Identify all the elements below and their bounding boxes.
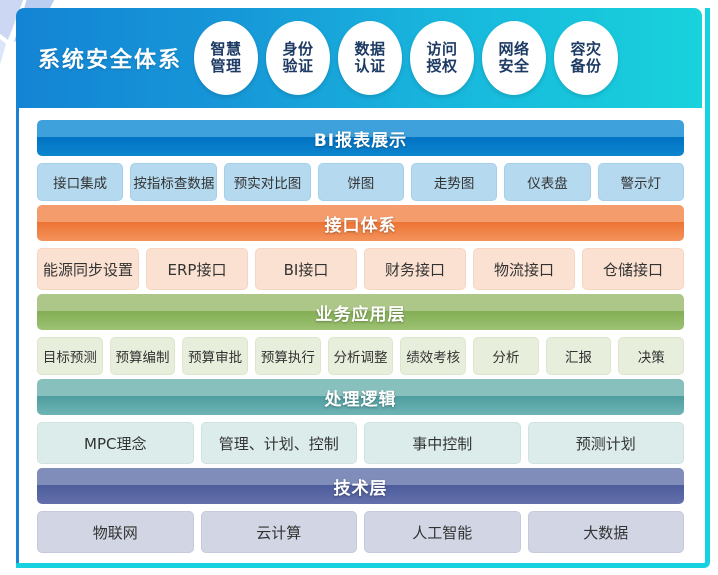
layer-processing-logic: 处理逻辑 MPC理念 管理、计划、控制 事中控制 预测计划	[33, 379, 688, 464]
layer-chip-row: 能源同步设置 ERP接口 BI接口 财务接口 物流接口 仓储接口	[33, 248, 688, 290]
layer-chip[interactable]: 饼图	[318, 163, 404, 201]
layer-chip[interactable]: 预测计划	[528, 422, 685, 464]
pill-line1: 数据	[355, 41, 386, 58]
layer-chip[interactable]: 汇报	[546, 337, 612, 375]
layer-chip[interactable]: BI接口	[255, 248, 357, 290]
layer-technology: 技术层 物联网 云计算 人工智能 大数据	[33, 468, 688, 553]
pill-line1: 网络	[499, 41, 530, 58]
layer-bi-report: BI报表展示 接口集成 按指标查数据 预实对比图 饼图 走势图 仪表盘 警示灯	[33, 120, 688, 201]
layer-chip[interactable]: 接口集成	[37, 163, 123, 201]
layer-chip[interactable]: 预算执行	[255, 337, 321, 375]
layer-chip[interactable]: 目标预测	[37, 337, 103, 375]
layer-chip[interactable]: 预实对比图	[224, 163, 310, 201]
layer-chip[interactable]: 人工智能	[364, 511, 521, 553]
header-band: 系统安全体系 智慧 管理 身份 验证 数据 认证 访问 授权 网络 安全	[16, 8, 702, 108]
layer-chip-row: 目标预测 预算编制 预算审批 预算执行 分析调整 绩效考核 分析 汇报 决策	[33, 337, 688, 375]
security-pill[interactable]: 访问 授权	[410, 21, 474, 95]
security-pill[interactable]: 智慧 管理	[194, 21, 258, 95]
layers-panel: BI报表展示 接口集成 按指标查数据 预实对比图 饼图 走势图 仪表盘 警示灯 …	[16, 108, 702, 563]
layer-chip[interactable]: 分析	[473, 337, 539, 375]
layer-chip[interactable]: ERP接口	[146, 248, 248, 290]
layer-chip[interactable]: 事中控制	[364, 422, 521, 464]
pill-line1: 智慧	[211, 41, 242, 58]
layer-chip[interactable]: 管理、计划、控制	[201, 422, 358, 464]
pill-line2: 备份	[571, 58, 602, 75]
layer-chip-row: 物联网 云计算 人工智能 大数据	[33, 511, 688, 553]
security-pill[interactable]: 数据 认证	[338, 21, 402, 95]
layer-chip[interactable]: 财务接口	[364, 248, 466, 290]
layer-business-application: 业务应用层 目标预测 预算编制 预算审批 预算执行 分析调整 绩效考核 分析 汇…	[33, 294, 688, 375]
layer-chip[interactable]: 预算审批	[182, 337, 248, 375]
layer-chip[interactable]: 能源同步设置	[37, 248, 139, 290]
pill-line2: 验证	[283, 58, 314, 75]
pill-line2: 管理	[211, 58, 242, 75]
layer-chip-row: MPC理念 管理、计划、控制 事中控制 预测计划	[33, 422, 688, 464]
layer-chip[interactable]: 云计算	[201, 511, 358, 553]
layer-band: 业务应用层	[37, 294, 684, 330]
layer-chip[interactable]: 分析调整	[328, 337, 394, 375]
security-pill[interactable]: 容灾 备份	[554, 21, 618, 95]
page-title: 系统安全体系	[38, 42, 182, 74]
security-pill[interactable]: 网络 安全	[482, 21, 546, 95]
layer-interface-system: 接口体系 能源同步设置 ERP接口 BI接口 财务接口 物流接口 仓储接口	[33, 205, 688, 290]
pill-line1: 容灾	[571, 41, 602, 58]
security-pill-row: 智慧 管理 身份 验证 数据 认证 访问 授权 网络 安全 容灾 备份	[194, 21, 696, 95]
layer-chip[interactable]: 决策	[618, 337, 684, 375]
layer-band: 处理逻辑	[37, 379, 684, 415]
layer-chip[interactable]: 仪表盘	[504, 163, 590, 201]
layer-band: BI报表展示	[37, 120, 684, 156]
layer-title: BI报表展示	[314, 126, 407, 151]
diagram-frame: 系统安全体系 智慧 管理 身份 验证 数据 认证 访问 授权 网络 安全	[16, 8, 710, 568]
layer-chip[interactable]: 预算编制	[110, 337, 176, 375]
pill-line2: 安全	[499, 58, 530, 75]
layer-band: 接口体系	[37, 205, 684, 241]
layer-chip[interactable]: 仓储接口	[582, 248, 684, 290]
layer-chip[interactable]: MPC理念	[37, 422, 194, 464]
layer-chip-row: 接口集成 按指标查数据 预实对比图 饼图 走势图 仪表盘 警示灯	[33, 163, 688, 201]
layer-chip[interactable]: 警示灯	[598, 163, 684, 201]
layer-chip[interactable]: 物流接口	[473, 248, 575, 290]
pill-line1: 身份	[283, 41, 314, 58]
layer-title: 技术层	[334, 474, 388, 499]
layer-title: 业务应用层	[316, 300, 406, 325]
pill-line2: 授权	[427, 58, 458, 75]
pill-line2: 认证	[355, 58, 386, 75]
layer-chip[interactable]: 走势图	[411, 163, 497, 201]
layer-chip[interactable]: 物联网	[37, 511, 194, 553]
layer-title: 处理逻辑	[325, 385, 397, 410]
layer-band: 技术层	[37, 468, 684, 504]
layer-chip[interactable]: 按指标查数据	[130, 163, 217, 201]
layer-title: 接口体系	[325, 211, 397, 236]
security-pill[interactable]: 身份 验证	[266, 21, 330, 95]
layer-chip[interactable]: 大数据	[528, 511, 685, 553]
pill-line1: 访问	[427, 41, 458, 58]
layer-chip[interactable]: 绩效考核	[400, 337, 466, 375]
